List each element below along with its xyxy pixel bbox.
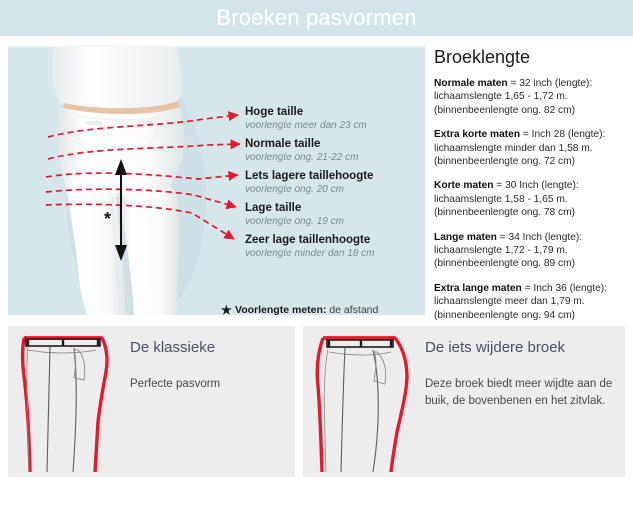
waist-label-subtitle: voorlengte ong. 20 cm — [245, 183, 425, 196]
fit-body: Perfecte pasvorm — [130, 376, 287, 393]
length-item-extra-lange-maten: Extra lange maten = Inch 36 (lengte): li… — [434, 282, 630, 322]
fit-panel-classic: De klassieke Perfecte pasvorm — [8, 326, 295, 477]
fit-panel-wide: De iets wijdere broek Deze broek biedt m… — [303, 326, 625, 477]
page-title: Broeken pasvormen — [0, 4, 633, 32]
waist-label-title: Lets lagere taillehoogte — [245, 169, 425, 183]
waist-label-title: Zeer lage taillenhoogte — [245, 233, 425, 247]
footnote-text: Voorlengte meten: de afstand loodrecht v… — [221, 303, 421, 315]
straight-leg-trousers-diagram — [16, 330, 124, 474]
fit-title: De klassieke — [130, 338, 287, 358]
length-item-extra-korte-maten: Extra korte maten = Inch 28 (lengte): li… — [434, 128, 630, 168]
fit-text-block: De klassieke Perfecte pasvorm — [130, 338, 287, 393]
waist-label-subtitle: voorlengte meer dan 23 cm — [245, 119, 425, 132]
waist-label-title: Lage taille — [245, 201, 425, 215]
waist-height-panel: * Hoge taille voorlengte meer dan 23 cm … — [8, 45, 425, 315]
footnote-label: Voorlengte meten: — [235, 304, 326, 315]
svg-text:*: * — [104, 209, 111, 229]
waist-label-list: Hoge taille voorlengte meer dan 23 cm No… — [245, 105, 425, 265]
fit-title: De iets wijdere broek — [425, 338, 617, 358]
waist-label-subtitle: voorlengte ong. 19 cm — [245, 215, 425, 228]
waist-label-hoge-taille: Hoge taille voorlengte meer dan 23 cm — [245, 105, 425, 132]
wider-trousers-diagram — [311, 330, 419, 474]
fit-text-block: De iets wijdere broek Deze broek biedt m… — [425, 338, 617, 410]
length-item-normale-maten: Normale maten = 32 inch (lengte): lichaa… — [434, 77, 630, 117]
section-heading: Broeklengte — [434, 45, 630, 69]
model-photo-illustration: * — [8, 47, 248, 315]
waist-label-subtitle: voorlengte ong. 21-22 cm — [245, 151, 425, 164]
waist-label-zeer-lage-taillenhoogte: Zeer lage taillenhoogte voorlengte minde… — [245, 233, 425, 260]
length-item-name: Extra korte maten — [434, 129, 520, 140]
length-item-name: Normale maten — [434, 78, 508, 89]
length-item-lange-maten: Lange maten = 34 Inch (lengte): lichaams… — [434, 231, 630, 271]
header-bar: Broeken pasvormen — [0, 0, 633, 36]
waist-label-iets-lagere-taillehoogte: Lets lagere taillehoogte voorlengte ong.… — [245, 169, 425, 196]
footnote: ★ Voorlengte meten: de afstand loodrecht… — [221, 303, 421, 315]
waist-label-normale-taille: Normale taille voorlengte ong. 21-22 cm — [245, 137, 425, 164]
length-item-korte-maten: Korte maten = 30 Inch (lengte): lichaams… — [434, 179, 630, 219]
waist-label-title: Normale taille — [245, 137, 425, 151]
length-item-name: Korte maten — [434, 180, 493, 191]
length-item-name: Lange maten — [434, 232, 497, 243]
waist-label-subtitle: voorlengte minder dan 18 cm — [245, 247, 425, 260]
waist-label-title: Hoge taille — [245, 105, 425, 119]
waist-label-lage-taille: Lage taille voorlengte ong. 19 cm — [245, 201, 425, 228]
trouser-length-section: Broeklengte Normale maten = 32 inch (len… — [434, 45, 630, 333]
fit-body: Deze broek biedt meer wijdte aan de buik… — [425, 376, 617, 410]
star-icon: ★ — [221, 303, 232, 315]
length-item-name: Extra lange maten — [434, 283, 522, 294]
